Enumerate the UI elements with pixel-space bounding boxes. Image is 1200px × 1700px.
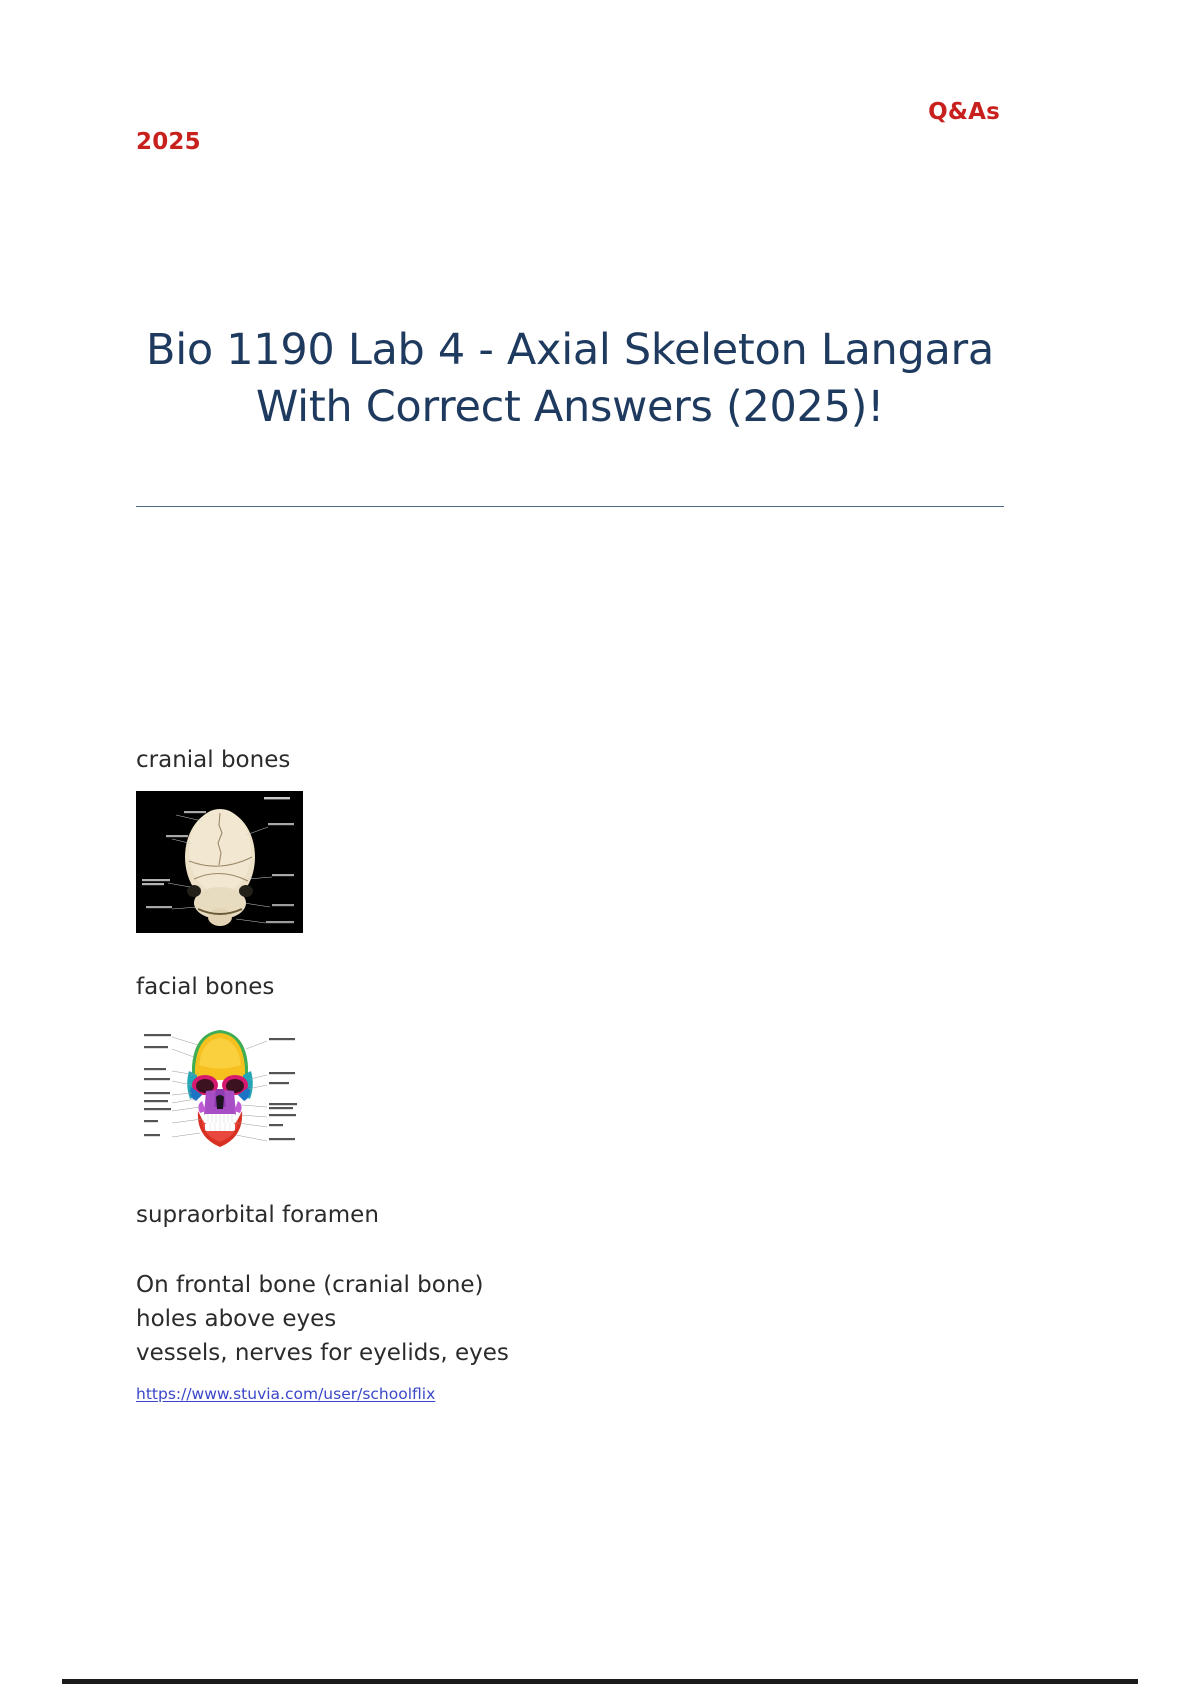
skull-anterior-colored-image xyxy=(136,1019,303,1161)
page-title: Bio 1190 Lab 4 - Axial Skeleton Langara … xyxy=(135,322,1005,436)
qa-term: facial bones xyxy=(136,971,1016,1004)
qa-answer: On frontal bone (cranial bone) holes abo… xyxy=(136,1268,1016,1370)
skull-superior-view-image xyxy=(136,791,303,933)
document-page: Q&As 2025 Bio 1190 Lab 4 - Axial Skeleto… xyxy=(0,0,1200,1700)
title-divider xyxy=(136,506,1004,507)
page-bottom-bar xyxy=(62,1679,1138,1684)
qa-content: cranial bones xyxy=(136,744,1016,1370)
stuvia-profile-link[interactable]: https://www.stuvia.com/user/schoolflix xyxy=(136,1385,435,1403)
qa-entry-supraorbital-foramen: supraorbital foramen On frontal bone (cr… xyxy=(136,1199,1016,1370)
skull-anterior-colored-svg xyxy=(136,1019,303,1161)
qa-entry-cranial-bones: cranial bones xyxy=(136,744,1016,933)
qa-term: cranial bones xyxy=(136,744,1016,777)
qas-stamp: Q&As xyxy=(928,99,1000,125)
qa-term: supraorbital foramen xyxy=(136,1199,1016,1232)
title-block: Bio 1190 Lab 4 - Axial Skeleton Langara … xyxy=(135,322,1005,436)
year-stamp: 2025 xyxy=(136,129,201,155)
qa-entry-facial-bones: facial bones xyxy=(136,971,1016,1160)
skull-superior-view-svg xyxy=(136,791,303,933)
